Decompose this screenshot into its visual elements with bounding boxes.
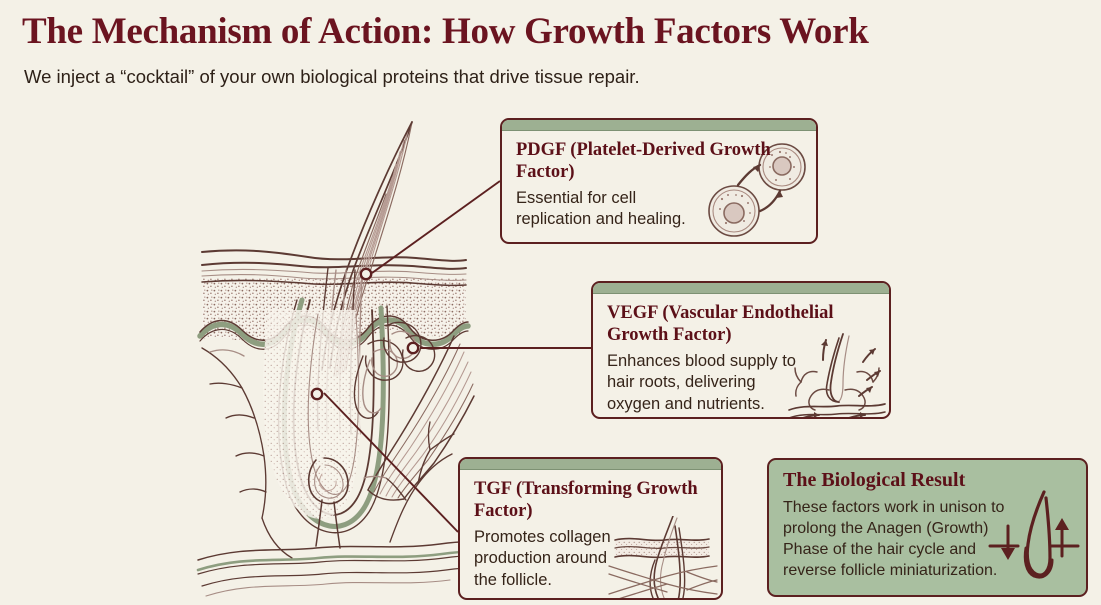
blood-vessels-right xyxy=(364,422,454,542)
card-title-tgf: TGF (Transforming Growth Factor) xyxy=(474,479,707,522)
subcutaneous-fibers xyxy=(198,542,496,596)
infographic-canvas: The Mechanism of Action: How Growth Fact… xyxy=(0,0,1101,605)
card-tgf[interactable]: TGF (Transforming Growth Factor) Promote… xyxy=(458,457,723,600)
page-title: The Mechanism of Action: How Growth Fact… xyxy=(22,10,868,53)
card-pdgf[interactable]: PDGF (Platelet-Derived Growth Factor) Es… xyxy=(500,118,818,244)
card-biological-result[interactable]: The Biological Result These factors work… xyxy=(767,458,1088,597)
card-vegf[interactable]: VEGF (Vascular Endothelial Growth Factor… xyxy=(591,281,891,419)
card-body-vegf: Enhances blood supply to hair roots, del… xyxy=(607,351,875,414)
card-body-pdgf: Essential for cell replication and heali… xyxy=(516,188,802,230)
card-title-result: The Biological Result xyxy=(783,469,1072,492)
card-body-result: These factors work in unison to prolong … xyxy=(783,498,1072,581)
card-body-tgf: Promotes collagen production around the … xyxy=(474,527,707,590)
hair-follicle-diagram xyxy=(150,100,510,605)
card-accent-band-pdgf xyxy=(502,120,816,131)
card-title-vegf: VEGF (Vascular Endothelial Growth Factor… xyxy=(607,303,875,346)
follicle-bulb xyxy=(260,300,389,548)
card-title-pdgf: PDGF (Platelet-Derived Growth Factor) xyxy=(516,140,802,183)
page-subtitle: We inject a “cocktail” of your own biolo… xyxy=(24,66,640,88)
card-accent-band-vegf xyxy=(593,283,889,294)
card-accent-band-tgf xyxy=(460,459,721,470)
